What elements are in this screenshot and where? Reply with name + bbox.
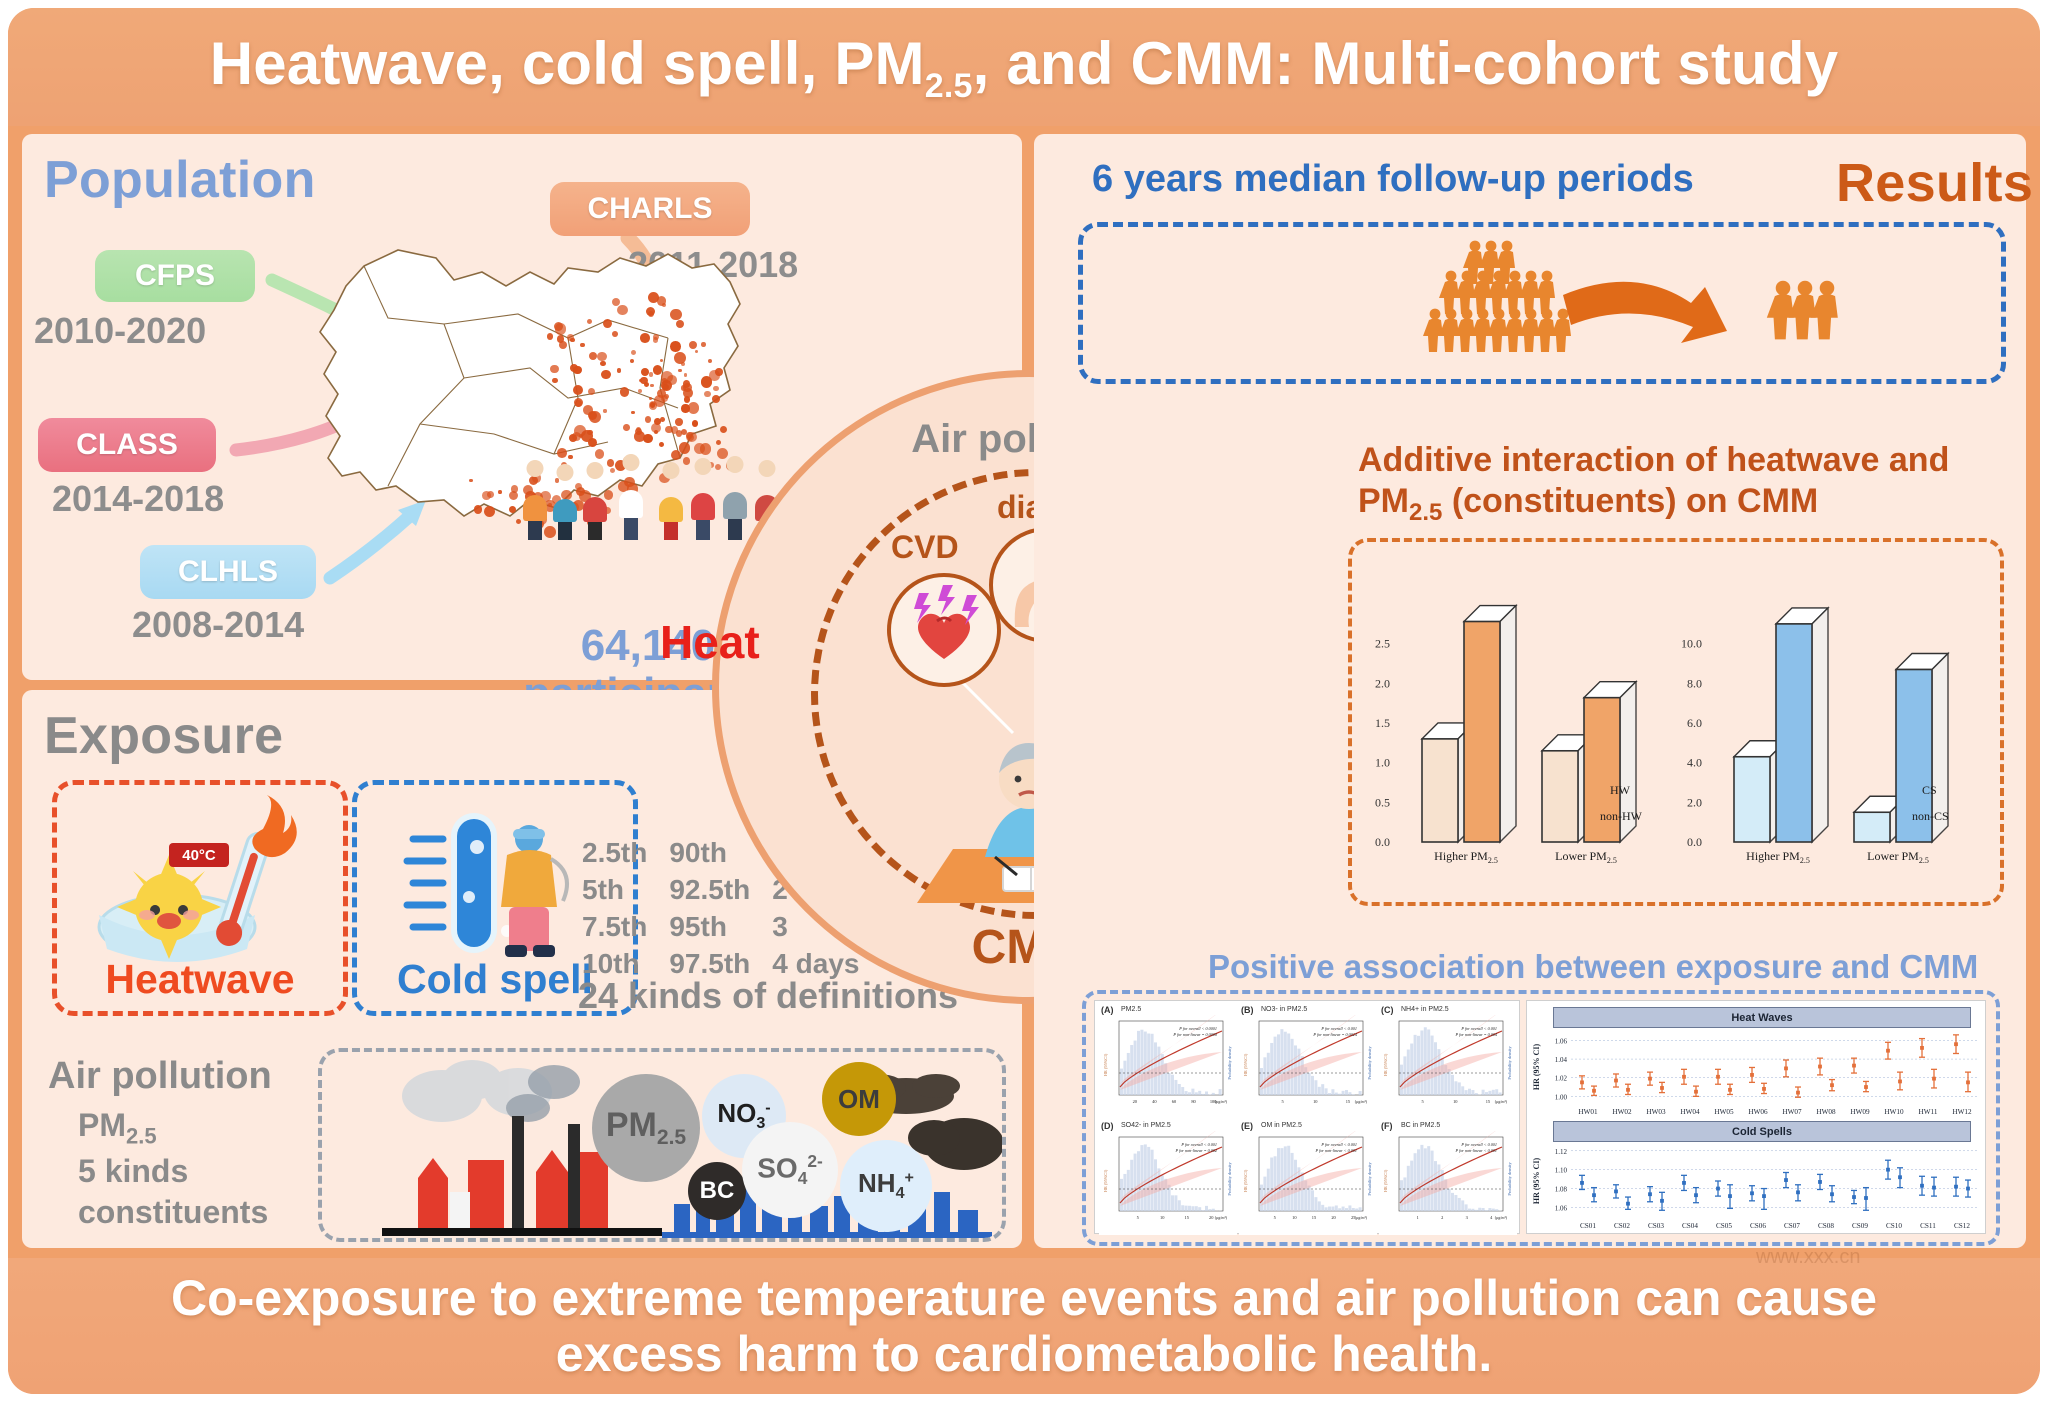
svg-text:1.10: 1.10 xyxy=(1555,1167,1568,1175)
svg-text:(μg/m³): (μg/m³) xyxy=(1495,1215,1508,1220)
svg-text:Probability density: Probability density xyxy=(1507,1162,1512,1196)
rcs-panel-F: (F)BC in PM2.5P for overall < 0.001P for… xyxy=(1379,1121,1517,1235)
rcs-curve-plot: P for overall < 0.001P for non-linear < … xyxy=(1239,1131,1377,1231)
person-figure xyxy=(520,460,550,540)
svg-text:P for non-linear < 0.001: P for non-linear < 0.001 xyxy=(1455,1148,1497,1153)
svg-text:20: 20 xyxy=(1209,1215,1214,1220)
svg-text:(μg/m³): (μg/m³) xyxy=(1355,1099,1368,1104)
svg-text:HW11: HW11 xyxy=(1919,1108,1938,1116)
svg-text:Higher PM2.5: Higher PM2.5 xyxy=(1746,849,1810,865)
svg-text:HW: HW xyxy=(1610,783,1631,797)
rcs-panel-name: PM2.5 xyxy=(1121,1006,1141,1013)
svg-text:1: 1 xyxy=(1417,1215,1419,1220)
rcs-panel-grid: (A)PM2.5P for overall < 0.0001P for non-… xyxy=(1094,1000,1520,1234)
cohort-years-cfps: 2010-2020 xyxy=(34,310,206,352)
svg-text:1.06: 1.06 xyxy=(1555,1037,1568,1045)
cohort-chip-cfps[interactable]: CFPS xyxy=(95,250,255,302)
air-pollution-illustration-box: PM2.5NO3-OMBCSO42-NH4+ xyxy=(318,1048,1006,1242)
person-figure xyxy=(616,454,646,540)
rcs-panel-name: SO42- in PM2.5 xyxy=(1121,1122,1171,1129)
svg-text:2: 2 xyxy=(1441,1215,1443,1220)
rcs-panel-name: NH4+ in PM2.5 xyxy=(1401,1006,1449,1013)
svg-text:1.12: 1.12 xyxy=(1555,1148,1568,1156)
svg-text:Probability density: Probability density xyxy=(1367,1046,1372,1080)
results-title: Results xyxy=(1836,152,2033,214)
cold-pct-2: 5th xyxy=(582,872,669,909)
svg-text:5: 5 xyxy=(1281,1099,1284,1104)
person-figure xyxy=(580,462,610,540)
svg-text:1.08: 1.08 xyxy=(1555,1186,1568,1194)
svg-text:1.04: 1.04 xyxy=(1555,1056,1568,1064)
svg-text:15: 15 xyxy=(1486,1099,1491,1104)
svg-text:(μg/m³): (μg/m³) xyxy=(1495,1099,1508,1104)
rcs-panel-E: (E)OM in PM2.5P for overall < 0.001P for… xyxy=(1239,1121,1377,1235)
svg-text:10: 10 xyxy=(1292,1215,1297,1220)
svg-text:P for non-linear = 0.002: P for non-linear = 0.002 xyxy=(1175,1148,1217,1153)
svg-text:4: 4 xyxy=(1490,1215,1493,1220)
svg-text:CS04: CS04 xyxy=(1682,1222,1698,1230)
svg-text:6.0: 6.0 xyxy=(1687,716,1702,730)
svg-text:HW12: HW12 xyxy=(1952,1108,1972,1116)
svg-text:10.0: 10.0 xyxy=(1681,637,1702,651)
ap-line-1: PM2.5 xyxy=(78,1105,268,1151)
svg-text:15: 15 xyxy=(1346,1099,1351,1104)
rcs-curve-plot: P for overall < 0.001P for non-linear = … xyxy=(1099,1131,1237,1231)
svg-text:HR (95%CI): HR (95%CI) xyxy=(1103,1053,1108,1076)
svg-text:HW01: HW01 xyxy=(1578,1108,1598,1116)
heat-label: Heat xyxy=(660,615,760,669)
additive-interaction-title: Additive interaction of heatwave and PM2… xyxy=(1358,440,1998,528)
cohort-chip-class[interactable]: CLASS xyxy=(38,418,216,472)
rcs-panel-C: (C)NH4+ in PM2.5P for overall < 0.001P f… xyxy=(1379,1005,1517,1119)
svg-text:Higher PM2.5: Higher PM2.5 xyxy=(1434,849,1498,865)
person-figure xyxy=(656,462,686,540)
svg-text:4.0: 4.0 xyxy=(1687,756,1702,770)
svg-text:non-CS: non-CS xyxy=(1912,809,1949,823)
rcs-panel-name: OM in PM2.5 xyxy=(1261,1122,1302,1129)
rcs-panel-letter: (B) xyxy=(1241,1005,1254,1015)
svg-text:CS07: CS07 xyxy=(1784,1222,1800,1230)
forest-plots: Heat Waves 1.001.021.041.06HW01HW02HW03H… xyxy=(1526,1000,1986,1234)
svg-text:0.0: 0.0 xyxy=(1687,835,1702,849)
svg-text:Lower PM2.5: Lower PM2.5 xyxy=(1555,849,1617,865)
svg-text:P for overall < 0.001: P for overall < 0.001 xyxy=(1320,1026,1357,1031)
svg-text:HW10: HW10 xyxy=(1884,1108,1904,1116)
svg-text:HW06: HW06 xyxy=(1748,1108,1768,1116)
positive-association-box: (A)PM2.5P for overall < 0.0001P for non-… xyxy=(1082,990,2000,1246)
cold-pct-3: 7.5th xyxy=(582,909,669,946)
svg-text:10: 10 xyxy=(1453,1099,1458,1104)
rcs-panel-name: BC in PM2.5 xyxy=(1401,1122,1440,1129)
svg-text:0.0: 0.0 xyxy=(1375,835,1390,849)
svg-text:P for overall < 0.001: P for overall < 0.001 xyxy=(1320,1142,1357,1147)
svg-text:Lower PM2.5: Lower PM2.5 xyxy=(1867,849,1929,865)
rcs-panel-D: (D)SO42- in PM2.5P for overall < 0.001P … xyxy=(1099,1121,1237,1235)
svg-text:P for non-linear < 0.001: P for non-linear < 0.001 xyxy=(1315,1148,1357,1153)
svg-text:HR (95%CI): HR (95%CI) xyxy=(1243,1053,1248,1076)
additive-interaction-chart-box: 0.00.51.01.52.02.5Higher PM2.5Lower PM2.… xyxy=(1348,538,2004,906)
rcs-panel-B: (B)NO3- in PM2.5P for overall < 0.001P f… xyxy=(1239,1005,1377,1119)
svg-text:5: 5 xyxy=(1421,1099,1424,1104)
cvd-icon xyxy=(887,573,1001,687)
heatwave-temp-label: 40°C xyxy=(182,847,216,864)
air-pollution-title: Air pollution xyxy=(48,1055,272,1098)
rcs-panel-A: (A)PM2.5P for overall < 0.0001P for non-… xyxy=(1099,1005,1237,1119)
svg-text:1.0: 1.0 xyxy=(1375,756,1390,770)
svg-text:0.5: 0.5 xyxy=(1375,795,1390,809)
cohort-flow-box: 64,140 non-CMD adults 1,229 new-onset CM… xyxy=(1078,222,2006,384)
rcs-curve-plot: P for overall < 0.001P for non-linear = … xyxy=(1379,1015,1517,1115)
svg-text:2.0: 2.0 xyxy=(1375,676,1390,690)
additive-interaction-chart: 0.00.51.01.52.02.5Higher PM2.5Lower PM2.… xyxy=(1352,542,2000,902)
rcs-panel-letter: (F) xyxy=(1381,1121,1393,1131)
page-title: Heatwave, cold spell, PM2.5, and CMM: Mu… xyxy=(210,29,1839,106)
svg-text:80: 80 xyxy=(1191,1099,1196,1104)
svg-text:HW08: HW08 xyxy=(1816,1108,1836,1116)
rcs-panel-letter: (E) xyxy=(1241,1121,1253,1131)
svg-text:8.0: 8.0 xyxy=(1687,676,1702,690)
svg-text:10: 10 xyxy=(1313,1099,1318,1104)
svg-text:P for non-linear = 0.0024: P for non-linear = 0.0024 xyxy=(1312,1032,1357,1037)
svg-text:CS11: CS11 xyxy=(1920,1222,1936,1230)
cohort-years-class: 2014-2018 xyxy=(52,478,224,520)
followup-text: 6 years median follow-up periods xyxy=(1092,158,1694,201)
heat-waves-header: Heat Waves xyxy=(1553,1007,1971,1028)
rcs-panel-letter: (A) xyxy=(1101,1005,1114,1015)
heat-waves-forest-plot: 1.001.021.041.06HW01HW02HW03HW04HW05HW06… xyxy=(1527,1027,1985,1119)
svg-text:Probability density: Probability density xyxy=(1367,1162,1372,1196)
svg-text:P for overall < 0.001: P for overall < 0.001 xyxy=(1460,1142,1497,1147)
cohort-flow-graphic xyxy=(1083,227,2001,379)
svg-text:HW09: HW09 xyxy=(1850,1108,1870,1116)
om-bubble: OM xyxy=(822,1062,896,1136)
svg-text:5: 5 xyxy=(1274,1215,1277,1220)
svg-text:20: 20 xyxy=(1331,1215,1336,1220)
svg-text:(μg/m³): (μg/m³) xyxy=(1355,1215,1368,1220)
svg-text:1.06: 1.06 xyxy=(1555,1204,1568,1212)
svg-text:P for non-linear = 0.0000: P for non-linear = 0.0000 xyxy=(1172,1032,1217,1037)
cold-spells-forest-plot: 1.061.081.101.12CS01CS02CS03CS04CS05CS06… xyxy=(1527,1141,1985,1233)
svg-text:CS10: CS10 xyxy=(1886,1222,1902,1230)
svg-text:HR (95% CI): HR (95% CI) xyxy=(1532,1044,1541,1091)
watermark: www.xxx.cn xyxy=(1756,1246,1986,1396)
ap-line-3: constituents xyxy=(78,1192,268,1233)
svg-text:HW04: HW04 xyxy=(1680,1108,1700,1116)
svg-text:CS01: CS01 xyxy=(1580,1222,1596,1230)
rcs-curve-plot: P for overall < 0.001P for non-linear = … xyxy=(1239,1015,1377,1115)
svg-text:HW02: HW02 xyxy=(1612,1108,1632,1116)
cold-pct-1: 2.5th xyxy=(582,835,669,872)
cohort-years-clhls: 2008-2014 xyxy=(132,604,304,646)
rcs-curve-plot: P for overall < 0.001P for non-linear < … xyxy=(1379,1131,1517,1231)
svg-text:1.02: 1.02 xyxy=(1555,1075,1568,1083)
poster-footer: Co-exposure to extreme temperature event… xyxy=(8,1258,2040,1394)
rcs-curve-plot: P for overall < 0.0001P for non-linear =… xyxy=(1099,1015,1237,1115)
person-figure xyxy=(550,464,580,540)
key-message: Co-exposure to extreme temperature event… xyxy=(134,1270,1914,1382)
svg-text:10: 10 xyxy=(1160,1215,1165,1220)
svg-text:HR (95%CI): HR (95%CI) xyxy=(1383,1169,1388,1192)
so4-bubble: SO42- xyxy=(742,1122,838,1218)
svg-text:Probability density: Probability density xyxy=(1227,1162,1232,1196)
svg-text:CS09: CS09 xyxy=(1852,1222,1868,1230)
svg-text:2.5: 2.5 xyxy=(1375,637,1390,651)
heatwave-label: Heatwave xyxy=(57,956,343,1003)
svg-text:P for overall < 0.001: P for overall < 0.001 xyxy=(1460,1026,1497,1031)
person-figure xyxy=(688,458,718,540)
svg-text:P for non-linear = 0.004: P for non-linear = 0.004 xyxy=(1455,1032,1497,1037)
svg-text:HW03: HW03 xyxy=(1646,1108,1666,1116)
poster-header: Heatwave, cold spell, PM2.5, and CMM: Mu… xyxy=(8,8,2040,126)
svg-text:Probability density: Probability density xyxy=(1227,1046,1232,1080)
svg-text:P for overall < 0.0001: P for overall < 0.0001 xyxy=(1178,1026,1217,1031)
svg-text:CS02: CS02 xyxy=(1614,1222,1630,1230)
positive-association-title: Positive association between exposure an… xyxy=(1208,948,1978,986)
svg-text:1.00: 1.00 xyxy=(1555,1093,1568,1101)
air-pollution-lines: PM2.5 5 kinds constituents xyxy=(78,1105,268,1232)
svg-text:(μg/m³): (μg/m³) xyxy=(1215,1099,1228,1104)
svg-text:2.0: 2.0 xyxy=(1687,795,1702,809)
graphical-abstract-poster: Heatwave, cold spell, PM2.5, and CMM: Mu… xyxy=(0,0,2048,1402)
svg-text:HW07: HW07 xyxy=(1782,1108,1802,1116)
svg-text:CS: CS xyxy=(1922,783,1937,797)
svg-text:(μg/m³): (μg/m³) xyxy=(1215,1215,1228,1220)
svg-text:HR (95% CI): HR (95% CI) xyxy=(1532,1158,1541,1205)
heatwave-box[interactable]: 40°C Heatwave xyxy=(52,780,348,1016)
svg-text:HR (95%CI): HR (95%CI) xyxy=(1383,1053,1388,1076)
svg-text:5: 5 xyxy=(1137,1215,1140,1220)
svg-text:P for overall < 0.001: P for overall < 0.001 xyxy=(1180,1142,1217,1147)
svg-text:CS05: CS05 xyxy=(1716,1222,1732,1230)
svg-text:CS06: CS06 xyxy=(1750,1222,1766,1230)
svg-text:3: 3 xyxy=(1466,1215,1469,1220)
pm25-bubble: PM2.5 xyxy=(592,1074,700,1182)
svg-text:60: 60 xyxy=(1172,1099,1177,1104)
svg-text:HR (95%CI): HR (95%CI) xyxy=(1243,1169,1248,1192)
svg-text:20: 20 xyxy=(1133,1099,1138,1104)
population-title: Population xyxy=(44,150,316,210)
svg-text:40: 40 xyxy=(1152,1099,1157,1104)
svg-text:Probability density: Probability density xyxy=(1507,1046,1512,1080)
cold-spells-header: Cold Spells xyxy=(1553,1121,1971,1142)
nh4-bubble: NH4+ xyxy=(840,1140,932,1232)
svg-text:HR (95%CI): HR (95%CI) xyxy=(1103,1169,1108,1192)
svg-text:non-HW: non-HW xyxy=(1600,809,1643,823)
ap-line-2: 5 kinds xyxy=(78,1151,268,1192)
rcs-panel-letter: (C) xyxy=(1381,1005,1394,1015)
svg-text:1.5: 1.5 xyxy=(1375,716,1390,730)
svg-text:CS12: CS12 xyxy=(1954,1222,1970,1230)
svg-text:HW05: HW05 xyxy=(1714,1108,1734,1116)
svg-text:15: 15 xyxy=(1312,1215,1317,1220)
rcs-panel-letter: (D) xyxy=(1101,1121,1114,1131)
svg-text:CS08: CS08 xyxy=(1818,1222,1834,1230)
svg-text:15: 15 xyxy=(1185,1215,1190,1220)
bc-bubble: BC xyxy=(688,1162,746,1220)
rcs-panel-name: NO3- in PM2.5 xyxy=(1261,1006,1307,1013)
svg-text:CS03: CS03 xyxy=(1648,1222,1664,1230)
exposure-title: Exposure xyxy=(44,706,283,766)
